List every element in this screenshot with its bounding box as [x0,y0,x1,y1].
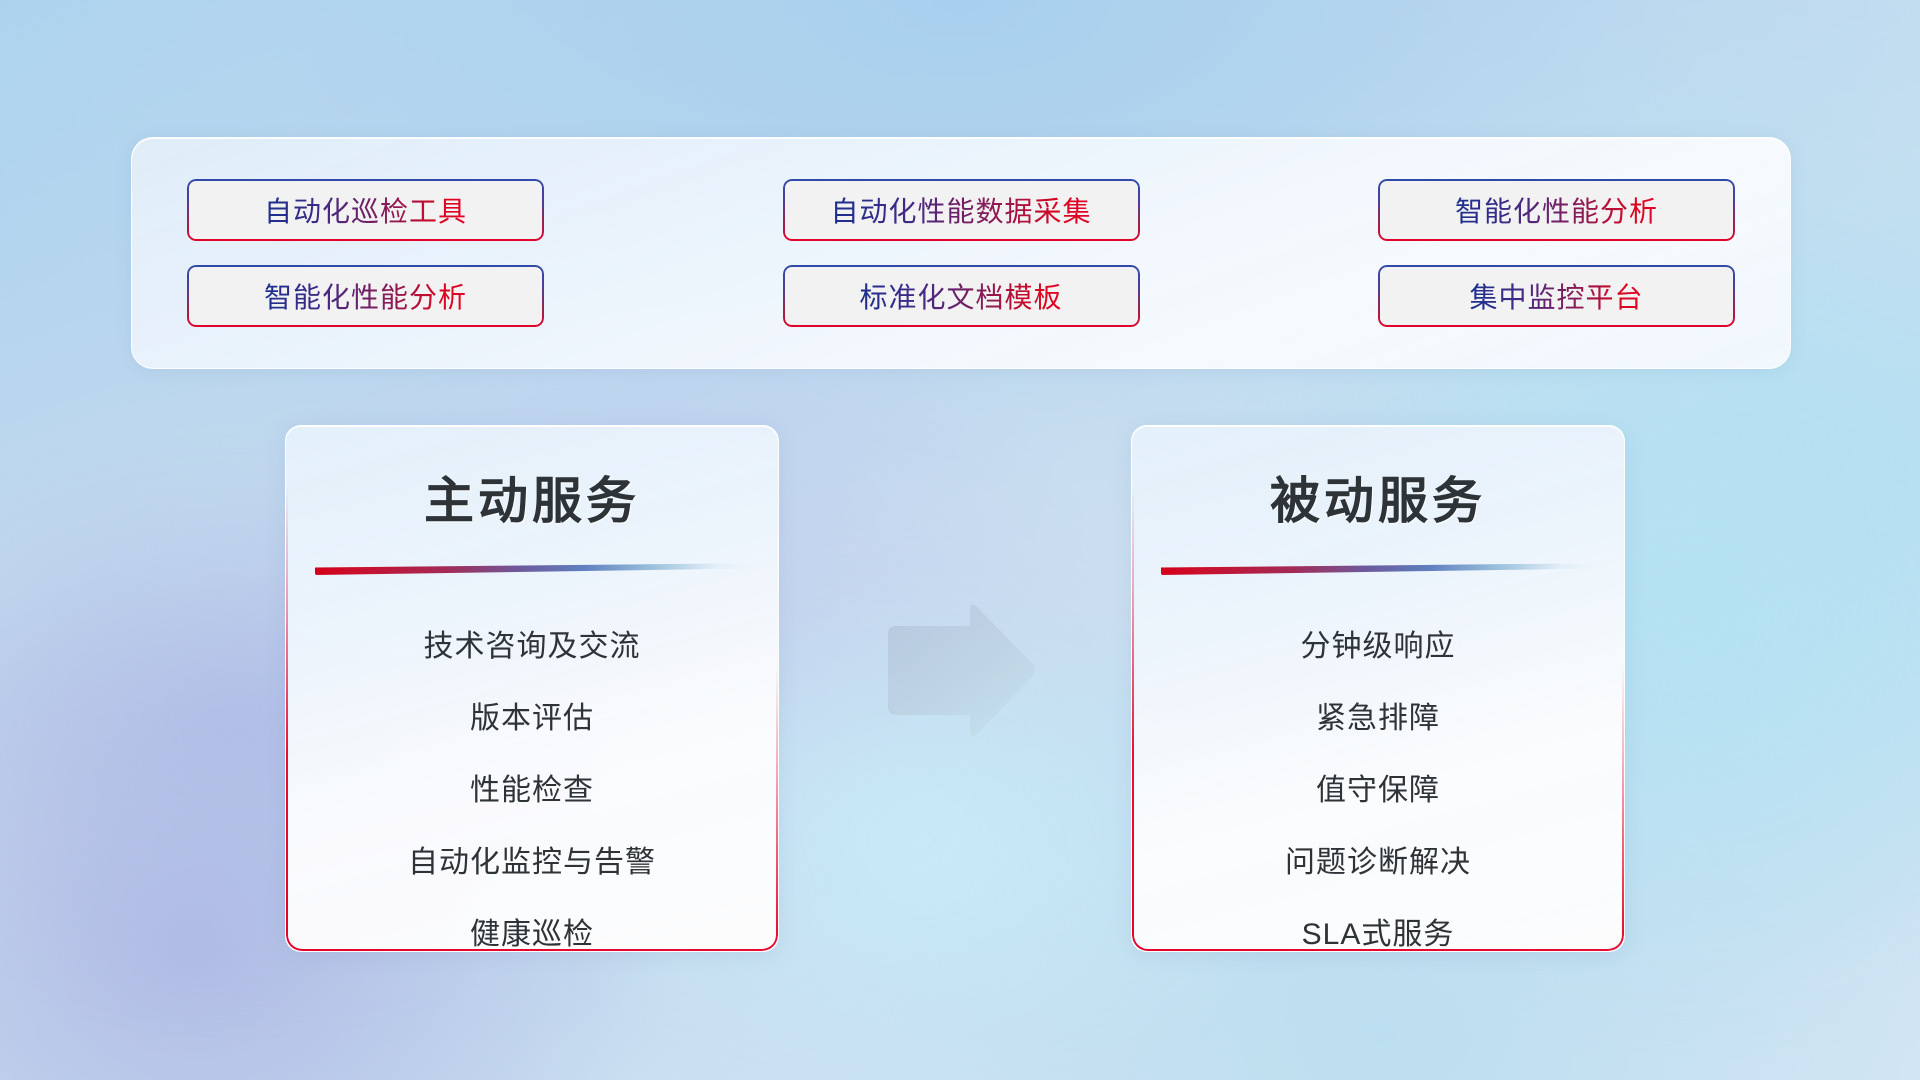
capability-pill-intelligent-performance-analysis-bottom[interactable]: 智能化性能分析 [187,265,544,327]
capability-pill-label: 智能化性能分析 [1455,190,1658,230]
capability-pill-row-2: 智能化性能分析 标准化文档模板 集中监控平台 [132,265,1790,327]
card-divider-reactive [1161,563,1595,575]
capability-pill-label: 自动化性能数据采集 [830,190,1091,230]
capability-pill-label: 智能化性能分析 [264,276,467,316]
capability-pill-automation-inspection-tool[interactable]: 自动化巡检工具 [187,179,544,241]
card-title-proactive: 主动服务 [286,461,778,533]
capability-pill-standardized-document-template[interactable]: 标准化文档模板 [783,265,1140,327]
card-list-proactive: 技术咨询及交流 版本评估 性能检查 自动化监控与告警 健康巡检 [286,611,778,952]
capability-pill-label: 集中监控平台 [1469,276,1643,316]
list-item: 性能检查 [286,755,778,827]
card-title-reactive: 被动服务 [1132,461,1624,533]
list-item: 问题诊断解决 [1132,827,1624,899]
list-item: 健康巡检 [286,899,778,952]
capability-panel: 自动化巡检工具 自动化性能数据采集 智能化性能分析 智能化性能分析 标准化文档模… [131,137,1791,369]
arrow-right-icon [880,600,1040,742]
card-divider-proactive [315,563,749,575]
list-item: SLA式服务 [1132,899,1624,952]
service-card-reactive: 被动服务 分钟级响应 紧急排障 值守保障 问题诊断解决 SLA式服务 [1131,425,1625,952]
capability-pill-label: 自动化巡检工具 [264,190,467,230]
capability-pill-automated-performance-data-collection[interactable]: 自动化性能数据采集 [783,179,1140,241]
list-item: 版本评估 [286,683,778,755]
divider-wedge [315,563,749,575]
list-item: 紧急排障 [1132,683,1624,755]
capability-pill-intelligent-performance-analysis-top[interactable]: 智能化性能分析 [1378,179,1735,241]
list-item: 自动化监控与告警 [286,827,778,899]
divider-wedge [1161,563,1595,575]
list-item: 技术咨询及交流 [286,611,778,683]
list-item: 分钟级响应 [1132,611,1624,683]
capability-pill-row-1: 自动化巡检工具 自动化性能数据采集 智能化性能分析 [132,179,1790,241]
capability-pill-label: 标准化文档模板 [859,276,1062,316]
list-item: 值守保障 [1132,755,1624,827]
capability-pill-centralized-monitoring-platform[interactable]: 集中监控平台 [1378,265,1735,327]
service-card-proactive: 主动服务 技术咨询及交流 版本评估 性能检查 自动化监控与告警 健康巡检 [285,425,779,952]
card-list-reactive: 分钟级响应 紧急排障 值守保障 问题诊断解决 SLA式服务 [1132,611,1624,952]
